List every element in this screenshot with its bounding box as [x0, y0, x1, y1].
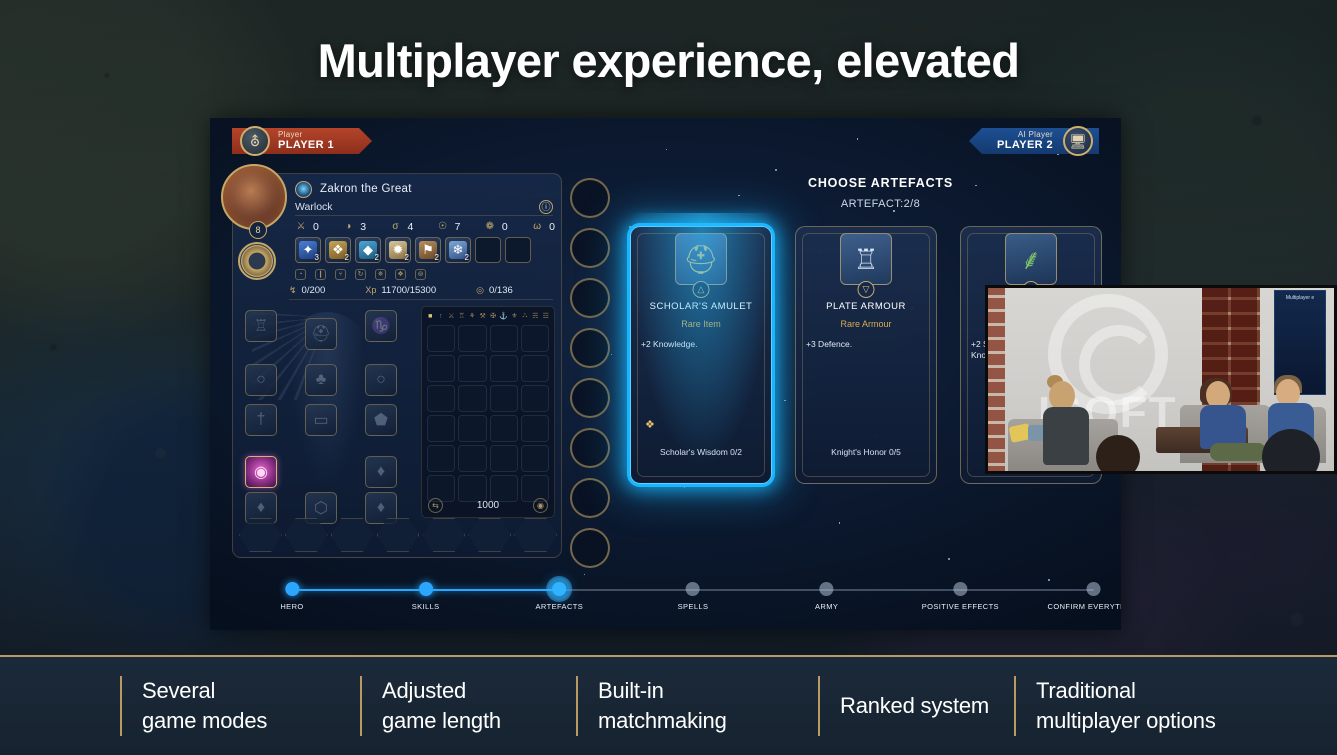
progress-step-army[interactable]: ARMY [815, 582, 838, 611]
defence-icon: ◑ [342, 221, 354, 232]
caption-text: Ranked system [840, 691, 989, 721]
skill-circle-slot[interactable] [570, 328, 610, 368]
inventory-tab-11[interactable]: ☲ [542, 312, 550, 320]
spell-count: 2 [345, 253, 349, 262]
hero-name-row: Zakron the Great [295, 179, 553, 199]
step-dot [285, 582, 299, 596]
progress-step-skills[interactable]: SKILLS [412, 582, 440, 611]
person-middle-legs [1210, 443, 1266, 461]
inventory-panel: ■↑⚔♖⚘⚒✠⚓⚜⛬☴☲ ⇆ 1000 ◉ [421, 306, 555, 518]
slot-ring-right[interactable]: ○ [365, 364, 397, 396]
inventory-cell[interactable] [427, 355, 455, 382]
speed-icon[interactable]: ↻ [355, 269, 366, 280]
inventory-cell[interactable] [427, 445, 455, 472]
bag-icon[interactable]: ◉ [533, 498, 548, 513]
card-slot-type-icon: △ [693, 281, 710, 298]
army-slot[interactable] [514, 518, 557, 552]
inventory-cell[interactable] [458, 325, 486, 352]
spell-count: 2 [375, 253, 379, 262]
step-label: ARTEFACTS [536, 602, 584, 611]
step-label: SPELLS [678, 602, 709, 611]
inventory-cell[interactable] [521, 445, 549, 472]
caption-item-1: Several game modes [120, 676, 356, 736]
caption-text: Several game modes [142, 676, 267, 737]
inventory-tab-7[interactable]: ⚓ [499, 312, 508, 320]
inventory-cell[interactable] [490, 385, 518, 412]
resource-1: Xp11700/15300 [365, 285, 436, 296]
luck-icon[interactable]: ⑂ [335, 269, 346, 280]
progress-step-spells[interactable]: SPELLS [678, 582, 709, 611]
slot-artefact-1[interactable]: ◉ [245, 456, 277, 488]
star [1057, 154, 1059, 156]
step-dot [419, 582, 433, 596]
inventory-cell[interactable] [521, 355, 549, 382]
hero-spellbook-row: ✦3❖2◆2✹2⚑2❄2 [295, 237, 555, 265]
inventory-cell[interactable] [427, 415, 455, 442]
card-rarity: Rare Armour [800, 319, 932, 329]
resource-value: 11700/15300 [381, 285, 436, 296]
player2-monitor-icon: 🖥 [1063, 126, 1093, 156]
step-label: HERO [280, 602, 303, 611]
hero-stat-5: ω0 [531, 221, 555, 233]
spell-slot-5[interactable]: ❄2 [445, 237, 471, 263]
mana-icon[interactable]: ◔ [295, 269, 306, 280]
spell-slot-empty-6[interactable] [475, 237, 501, 263]
inventory-tab-8[interactable]: ⚜ [510, 312, 518, 320]
movement-icon: ↯ [289, 285, 297, 296]
feature-caption-bar: Several game modesAdjusted game lengthBu… [0, 655, 1337, 755]
skill-circle-slot[interactable] [570, 478, 610, 518]
slot-shoulders-left[interactable]: ♖ [245, 310, 277, 342]
stage-screen-caption: Multiplayer e [1275, 295, 1325, 301]
gold-amount: 1000 [477, 500, 499, 511]
resource-2: ◎0/136 [476, 285, 513, 296]
army-slot[interactable] [468, 518, 511, 552]
card-set-bonus: Knight's Honor 0/5 [800, 447, 932, 457]
star [666, 149, 668, 151]
spell-count: 2 [435, 253, 439, 262]
caption-text: Built-in matchmaking [598, 676, 727, 737]
slot-ring-left[interactable]: ○ [245, 364, 277, 396]
mouse-cursor-icon: ❖ [645, 418, 655, 431]
slot-cape[interactable]: ♑ [365, 310, 397, 342]
spell-count: 3 [315, 253, 319, 262]
card-name: SCHOLAR'S AMULET [635, 301, 767, 312]
attack-icon: ⚔ [295, 221, 307, 232]
inventory-tab-3[interactable]: ♖ [457, 312, 465, 320]
spell-slot-4[interactable]: ⚑2 [415, 237, 441, 263]
resource-0: ↯0/200 [289, 285, 325, 296]
hero-class-row: Warlock ⓘ [295, 198, 553, 216]
star [775, 169, 777, 171]
person-left-body [1043, 407, 1089, 465]
hero-stat-0: ⚔0 [295, 221, 319, 233]
artefact-card-1[interactable]: ⛑△SCHOLAR'S AMULETRare Item+2 Knowledge.… [630, 226, 772, 484]
brick-wall-left [988, 288, 1005, 474]
step-dot [1087, 582, 1101, 596]
hero-crest-icon [295, 181, 312, 198]
army-slot[interactable] [422, 518, 465, 552]
inventory-cell[interactable] [521, 385, 549, 412]
caption-item-4: Ranked system [818, 676, 1010, 736]
player1-banner: ❮ Player PLAYER 1 ⛢ [232, 128, 372, 154]
xp-icon: Xp [365, 285, 376, 295]
player1-role: Player [278, 131, 354, 140]
equipment-doll: ♖⛑♑○♣○†▭⬟◉♦♦⬡♦ [241, 306, 413, 518]
inventory-cell[interactable] [427, 385, 455, 412]
progress-step-confirm-everything[interactable]: CONFIRM EVERYTHING [1048, 582, 1121, 611]
inventory-filter-tabs: ■↑⚔♖⚘⚒✠⚓⚜⛬☴☲ [426, 310, 550, 322]
inventory-cell[interactable] [490, 445, 518, 472]
inventory-cell[interactable] [427, 325, 455, 352]
progress-step-hero[interactable]: HERO [280, 582, 303, 611]
step-dot [953, 582, 967, 596]
step-dot [820, 582, 834, 596]
setup-progress-steps: HEROSKILLSARTEFACTSSPELLSARMYPOSITIVE EF… [285, 582, 1101, 618]
player1-name: PLAYER 1 [278, 139, 354, 151]
player2-role: AI Player [1018, 131, 1053, 140]
caption-item-3: Built-in matchmaking [576, 676, 814, 736]
hero-stat-value: 4 [407, 221, 413, 233]
inventory-cell[interactable] [490, 325, 518, 352]
stream-webcam-overlay[interactable]: ISOFT Multiplayer e [985, 285, 1337, 474]
inventory-tab-6[interactable]: ✠ [489, 312, 497, 320]
step-label: ARMY [815, 602, 838, 611]
spell-slot-1[interactable]: ❖2 [325, 237, 351, 263]
player2-banner: AI Player PLAYER 2 🖥 [969, 128, 1099, 154]
plate-armour-icon: ♖ [840, 233, 892, 285]
step-label: SKILLS [412, 602, 440, 611]
army-slot[interactable] [377, 518, 420, 552]
artefact-card-2[interactable]: ♖▽PLATE ARMOURRare Armour+3 Defence.Knig… [795, 226, 937, 484]
inventory-footer: ⇆ 1000 ◉ [428, 498, 548, 513]
hero-stat-value: 0 [502, 221, 508, 233]
spell-slot-3[interactable]: ✹2 [385, 237, 411, 263]
caption-item-5: Traditional multiplayer options [1014, 676, 1216, 736]
progress-step-positive-effects[interactable]: POSITIVE EFFECTS [922, 582, 999, 611]
morale-icon[interactable]: ❙ [315, 269, 326, 280]
inventory-tab-5[interactable]: ⚒ [478, 312, 486, 320]
inventory-tab-9[interactable]: ⛬ [521, 312, 529, 320]
resource-value: 0/136 [489, 285, 513, 296]
slot-torso[interactable]: ♣ [305, 364, 337, 396]
slot-shield[interactable]: ⬟ [365, 404, 397, 436]
inventory-tab-0[interactable]: ■ [426, 313, 434, 320]
player1-helmet-icon: ⛢ [240, 126, 270, 156]
audience-head-left [1096, 435, 1140, 474]
spell-slot-0[interactable]: ✦3 [295, 237, 321, 263]
hero-stat-4: ❁0 [484, 221, 508, 233]
artefact-counter: ARTEFACT:2/8 [640, 198, 1121, 210]
step-dot [552, 582, 566, 596]
progress-step-artefacts[interactable]: ARTEFACTS [536, 582, 584, 611]
hero-faction-seal-icon [238, 242, 276, 280]
hero-class: Warlock [295, 201, 333, 213]
skill-circle-slot[interactable] [570, 528, 610, 568]
star [893, 210, 894, 211]
spell-slot-2[interactable]: ◆2 [355, 237, 381, 263]
initiative-icon[interactable]: ✵ [375, 269, 386, 280]
army-slot[interactable] [285, 518, 328, 552]
star [857, 138, 859, 140]
step-dot [686, 582, 700, 596]
knowledge-icon: ☉ [437, 221, 449, 232]
skill-circle-slot[interactable] [570, 428, 610, 468]
person-left [1043, 381, 1099, 465]
skill-circle-slot[interactable] [570, 378, 610, 418]
inventory-cell[interactable] [458, 445, 486, 472]
star [738, 195, 739, 196]
page-title: Multiplayer experience, elevated [0, 33, 1337, 88]
slot-artefact-2[interactable]: ♦ [365, 456, 397, 488]
hero-secondary-stats-row: ◔❙⑂↻✵❖⊚ [295, 267, 555, 281]
leadership-icon: ❁ [484, 221, 496, 232]
hero-panel: 8 Zakron the Great Warlock ⓘ ⚔0◑3σ4☉7❁0ω… [232, 173, 562, 558]
card-set-bonus: Scholar's Wisdom 0/2 [635, 447, 767, 457]
hero-stat-value: 0 [549, 221, 555, 233]
hero-name: Zakron the Great [320, 183, 412, 195]
inventory-cell[interactable] [490, 355, 518, 382]
mana-icon: ◎ [476, 285, 484, 296]
hero-stat-1: ◑3 [342, 221, 366, 233]
inventory-cell[interactable] [458, 355, 486, 382]
hero-stats-row: ⚔0◑3σ4☉7❁0ω0 [295, 218, 555, 235]
card-effect: +3 Defence. [806, 339, 928, 350]
caption-text: Traditional multiplayer options [1036, 676, 1216, 737]
sort-icon[interactable]: ⇆ [428, 498, 443, 513]
inventory-tab-4[interactable]: ⚘ [468, 312, 476, 320]
army-slot-row [239, 518, 557, 552]
slot-belt[interactable]: ▭ [305, 404, 337, 436]
hero-level-badge: 8 [249, 221, 267, 239]
inventory-cell[interactable] [458, 385, 486, 412]
hero-info-icon[interactable]: ⓘ [539, 200, 553, 214]
player2-name: PLAYER 2 [997, 139, 1053, 151]
star [1048, 579, 1050, 581]
slot-weapon[interactable]: † [245, 404, 277, 436]
star [584, 574, 586, 576]
screenshot-root: Multiplayer experience, elevated ❮ Playe… [0, 0, 1337, 755]
card-slot-type-icon: ▽ [858, 281, 875, 298]
resist-icon[interactable]: ❖ [395, 269, 406, 280]
skill-circle-column [570, 178, 616, 568]
choose-artefacts-title: CHOOSE ARTEFACTS [640, 176, 1121, 190]
step-label: CONFIRM EVERYTHING [1048, 602, 1121, 611]
star [839, 522, 841, 524]
spell-count: 2 [405, 253, 409, 262]
hero-stat-2: σ4 [389, 221, 413, 233]
skill-circle-slot[interactable] [570, 278, 610, 318]
aura-icon[interactable]: ⊚ [415, 269, 426, 280]
dragon-banner-icon: ⸙ [1005, 233, 1057, 285]
hero-portrait-avatar[interactable] [221, 164, 287, 230]
person-middle [1196, 381, 1256, 461]
army-slot[interactable] [239, 518, 282, 552]
hero-resources-row: ↯0/200Xp11700/15300◎0/136 [289, 284, 553, 300]
inventory-cell[interactable] [458, 415, 486, 442]
spellpower-icon: σ [389, 221, 401, 232]
inventory-grid [427, 325, 549, 502]
card-rarity: Rare Item [635, 319, 767, 329]
hero-stat-value: 7 [455, 221, 461, 233]
hero-stat-3: ☉7 [437, 221, 461, 233]
card-name: PLATE ARMOUR [800, 301, 932, 312]
caption-text: Adjusted game length [382, 676, 501, 737]
caption-item-2: Adjusted game length [360, 676, 572, 736]
skill-circle-slot[interactable] [570, 228, 610, 268]
spell-slot-empty-7[interactable] [505, 237, 531, 263]
slot-helmet[interactable]: ⛑ [305, 318, 337, 350]
inventory-tab-2[interactable]: ⚔ [447, 312, 455, 320]
hero-stat-value: 0 [313, 221, 319, 233]
inventory-cell[interactable] [521, 325, 549, 352]
hero-stat-value: 3 [360, 221, 366, 233]
card-effect: +2 Knowledge. [641, 339, 763, 350]
inventory-tab-1[interactable]: ↑ [436, 313, 444, 320]
step-label: POSITIVE EFFECTS [922, 602, 999, 611]
army-slot[interactable] [331, 518, 374, 552]
inventory-cell[interactable] [490, 415, 518, 442]
destiny-icon: ω [531, 221, 543, 232]
spell-count: 2 [465, 253, 469, 262]
star [948, 558, 950, 560]
inventory-tab-10[interactable]: ☴ [531, 312, 539, 320]
inventory-cell[interactable] [521, 415, 549, 442]
amulet-helmet-icon: ⛑ [675, 233, 727, 285]
resource-value: 0/200 [302, 285, 326, 296]
skill-circle-slot[interactable] [570, 178, 610, 218]
